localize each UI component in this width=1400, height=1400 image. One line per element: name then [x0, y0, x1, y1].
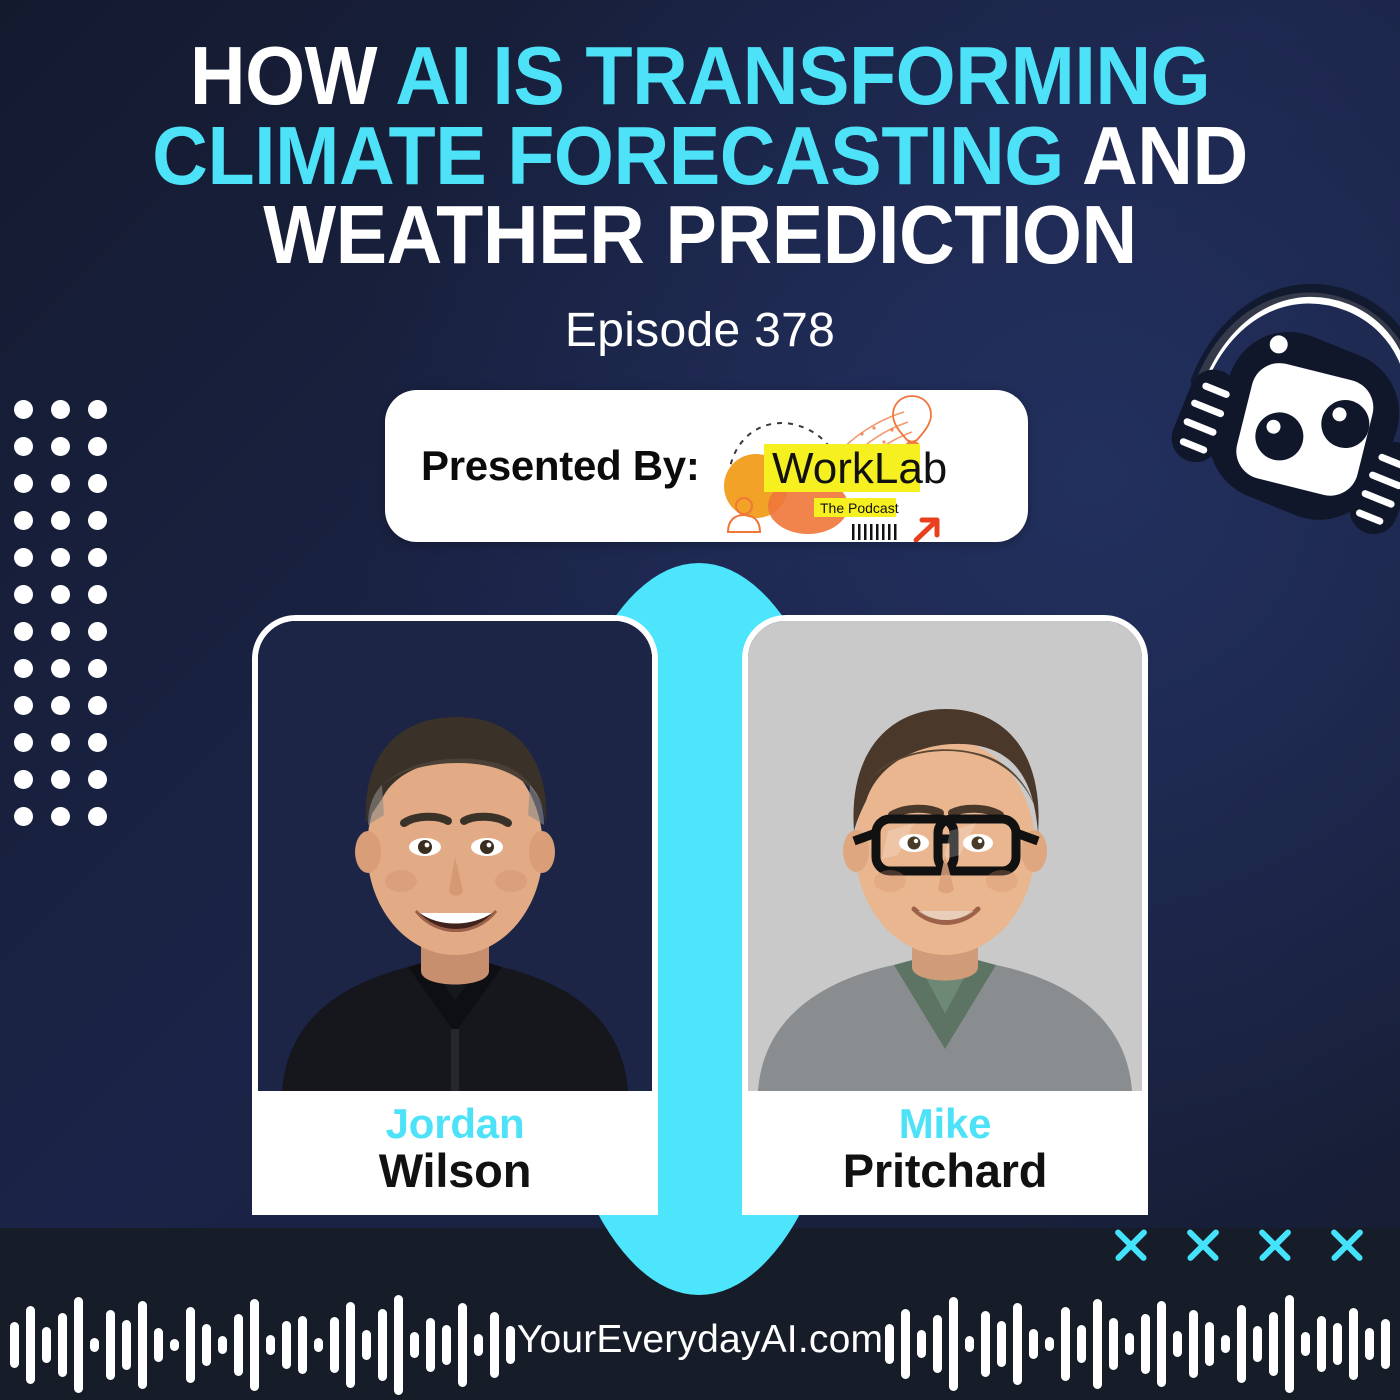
- grid-dot: [88, 622, 107, 641]
- website-url: YourEverydayAI.com: [0, 1318, 1400, 1362]
- grid-dot: [51, 622, 70, 641]
- grid-dot: [88, 474, 107, 493]
- host-photo-jordan-wilson: [258, 621, 652, 1091]
- grid-dot: [88, 696, 107, 715]
- x-mark-icon: [1330, 1228, 1364, 1262]
- grid-dot: [51, 733, 70, 752]
- host-nameplate-jordan-wilson: Jordan Wilson: [258, 1091, 652, 1209]
- grid-dot: [51, 770, 70, 789]
- worklab-logo: WorkLab The Podcast: [712, 390, 947, 542]
- presented-by-label: Presented By:: [421, 442, 700, 490]
- episode-number-label: Episode 378: [0, 303, 1400, 358]
- grid-dot: [88, 659, 107, 678]
- grid-dot: [14, 770, 33, 789]
- grid-dot: [14, 622, 33, 641]
- episode-title: HOW AI IS TRANSFORMING CLIMATE FORECASTI…: [0, 36, 1400, 275]
- podcast-cover: HOW AI IS TRANSFORMING CLIMATE FORECASTI…: [0, 0, 1400, 1400]
- grid-dot: [51, 437, 70, 456]
- host-photo-mike-pritchard: [748, 621, 1142, 1091]
- grid-dot: [88, 548, 107, 567]
- grid-dot: [88, 437, 107, 456]
- grid-dot: [51, 585, 70, 604]
- grid-dot: [88, 511, 107, 530]
- x-mark-icon: [1258, 1228, 1292, 1262]
- grid-dot: [51, 548, 70, 567]
- host-card-jordan-wilson: Jordan Wilson: [252, 615, 658, 1215]
- grid-dot: [14, 659, 33, 678]
- grid-dot: [14, 696, 33, 715]
- title-line-2: CLIMATE FORECASTING AND: [86, 116, 1314, 196]
- grid-dot: [51, 400, 70, 419]
- x-mark-icon: [1114, 1228, 1148, 1262]
- grid-dot: [88, 400, 107, 419]
- x-marks-decoration: [1114, 1228, 1364, 1262]
- grid-dot: [14, 807, 33, 826]
- grid-dot: [88, 807, 107, 826]
- grid-dot: [14, 548, 33, 567]
- host-nameplate-mike-pritchard: Mike Pritchard: [748, 1091, 1142, 1209]
- grid-dot: [51, 474, 70, 493]
- grid-dot: [14, 474, 33, 493]
- grid-dot: [51, 659, 70, 678]
- host-first-name: Jordan: [386, 1103, 525, 1145]
- grid-dot: [14, 400, 33, 419]
- grid-dot: [88, 770, 107, 789]
- grid-dot: [51, 696, 70, 715]
- svg-text:The Podcast: The Podcast: [820, 500, 899, 516]
- host-last-name: Pritchard: [843, 1147, 1048, 1194]
- title-line-3: WEATHER PREDICTION: [86, 195, 1314, 275]
- grid-dot: [88, 585, 107, 604]
- grid-dot: [14, 733, 33, 752]
- host-last-name: Wilson: [379, 1147, 531, 1194]
- grid-dot: [14, 437, 33, 456]
- x-mark-icon: [1186, 1228, 1220, 1262]
- grid-dot: [51, 511, 70, 530]
- grid-dot: [14, 511, 33, 530]
- presented-by-badge: Presented By:: [385, 390, 1028, 542]
- svg-text:WorkLab: WorkLab: [772, 444, 947, 493]
- title-seg-white: WEATHER PREDICTION: [263, 188, 1137, 281]
- grid-dot: [88, 733, 107, 752]
- host-first-name: Mike: [899, 1103, 992, 1145]
- grid-dot: [51, 807, 70, 826]
- dot-grid-decoration: [14, 400, 125, 844]
- host-card-mike-pritchard: Mike Pritchard: [742, 615, 1148, 1215]
- grid-dot: [14, 585, 33, 604]
- title-line-1: HOW AI IS TRANSFORMING: [86, 36, 1314, 116]
